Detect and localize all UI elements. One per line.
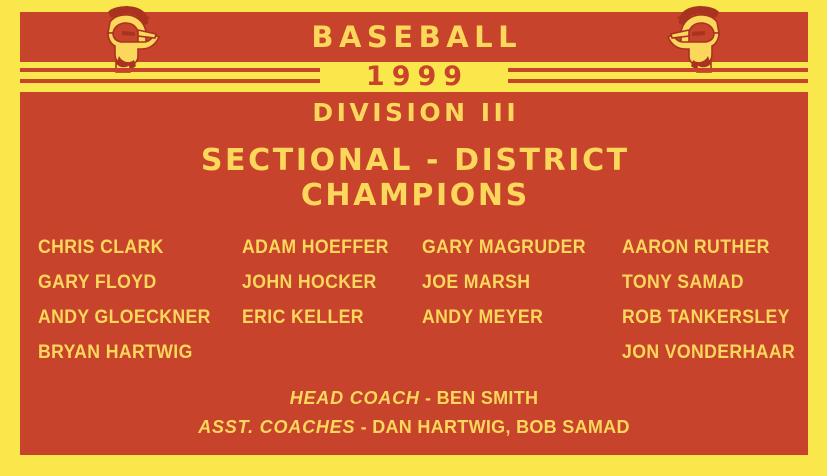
assistant-coaches-names: DAN HARTWIG, BOB SAMAD: [372, 417, 630, 437]
roster-column: AARON RUTHER TONY SAMAD ROB TANKERSLEY J…: [622, 230, 808, 370]
roster-column: GARY MAGRUDER JOE MARSH ANDY MEYER: [422, 230, 621, 370]
head-coach-line: HEAD COACH - BEN SMITH: [20, 384, 808, 413]
division-label: DIVISION III: [20, 98, 808, 128]
head-coach-name: BEN SMITH: [437, 388, 539, 408]
page-title: BASEBALL: [306, 23, 522, 52]
coaching-staff: HEAD COACH - BEN SMITH ASST. COACHES - D…: [20, 384, 808, 442]
team-poster: BASEBALL: [0, 0, 827, 476]
player-name: ROB TANKERSLEY: [622, 300, 795, 335]
player-name: AARON RUTHER: [622, 230, 795, 265]
player-name: ANDY GLOECKNER: [38, 300, 228, 335]
head-coach-separator: -: [420, 388, 437, 408]
player-name: JOHN HOCKER: [242, 265, 409, 300]
assistant-coaches-line: ASST. COACHES - DAN HARTWIG, BOB SAMAD: [20, 413, 808, 442]
year-label: 1999: [20, 61, 808, 92]
assistant-coaches-role: ASST. COACHES: [198, 417, 355, 437]
player-name: GARY MAGRUDER: [422, 230, 608, 265]
player-name: BRYAN HARTWIG: [38, 335, 228, 370]
championship-title-line1: SECTIONAL - DISTRICT: [201, 143, 630, 178]
championship-title-line2: CHAMPIONS: [20, 179, 808, 214]
player-name: CHRIS CLARK: [38, 230, 228, 265]
roster: CHRIS CLARK GARY FLOYD ANDY GLOECKNER BR…: [20, 230, 808, 370]
year-divider: 1999: [20, 64, 808, 90]
assistant-coaches-separator: -: [355, 417, 372, 437]
player-name: TONY SAMAD: [622, 265, 795, 300]
roster-column: ADAM HOEFFER JOHN HOCKER ERIC KELLER: [242, 230, 422, 370]
player-name: ADAM HOEFFER: [242, 230, 409, 265]
player-name: ANDY MEYER: [422, 300, 608, 335]
championship-title: SECTIONAL - DISTRICT CHAMPIONS: [20, 144, 808, 214]
player-name: ERIC KELLER: [242, 300, 409, 335]
main-panel: DIVISION III SECTIONAL - DISTRICT CHAMPI…: [20, 92, 808, 455]
player-name: GARY FLOYD: [38, 265, 228, 300]
player-name: JOE MARSH: [422, 265, 608, 300]
header-band: BASEBALL: [20, 12, 808, 62]
player-name: JON VONDERHAAR: [622, 335, 795, 370]
roster-column: CHRIS CLARK GARY FLOYD ANDY GLOECKNER BR…: [20, 230, 242, 370]
head-coach-role: HEAD COACH: [290, 388, 420, 408]
